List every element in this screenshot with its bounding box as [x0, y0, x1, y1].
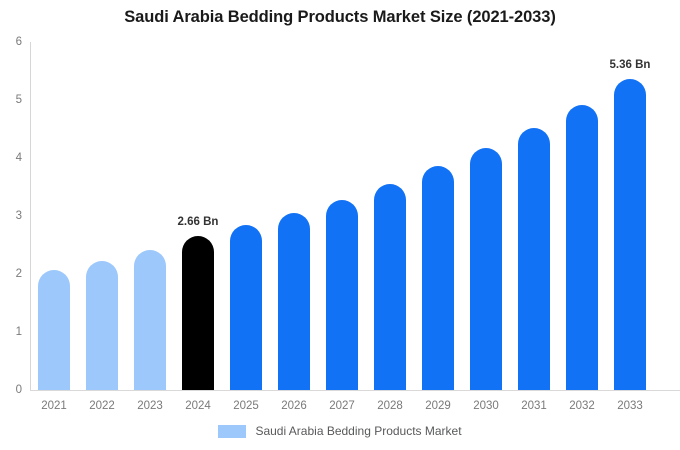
- bar-2023[interactable]: [134, 250, 166, 390]
- x-axis-tick-label-2025: 2025: [222, 400, 270, 412]
- y-axis-tick-label: 6: [16, 36, 22, 48]
- x-axis-tick-label-2029: 2029: [414, 400, 462, 412]
- bar-2027[interactable]: [326, 200, 358, 390]
- x-axis-tick-label-2027: 2027: [318, 400, 366, 412]
- x-axis-tick-label-2022: 2022: [78, 400, 126, 412]
- y-axis-tick-label: 2: [16, 268, 22, 280]
- chart-container: Saudi Arabia Bedding Products Market Siz…: [0, 0, 680, 450]
- bar-2030[interactable]: [470, 148, 502, 390]
- y-axis-line: [30, 42, 31, 390]
- x-axis-tick-label-2021: 2021: [30, 400, 78, 412]
- legend-swatch-icon: [218, 425, 246, 438]
- x-axis-tick-label-2030: 2030: [462, 400, 510, 412]
- y-axis-tick-label: 4: [16, 152, 22, 164]
- bar-2022[interactable]: [86, 261, 118, 390]
- bar-2033[interactable]: 5.36 Bn: [614, 79, 646, 390]
- chart-legend: Saudi Arabia Bedding Products Market: [0, 424, 680, 438]
- legend-item-label: Saudi Arabia Bedding Products Market: [255, 424, 461, 438]
- bar-2031[interactable]: [518, 128, 550, 390]
- bar-value-label-2033: 5.36 Bn: [610, 59, 651, 71]
- x-axis-tick-label-2031: 2031: [510, 400, 558, 412]
- chart-title: Saudi Arabia Bedding Products Market Siz…: [0, 8, 680, 27]
- bar-2028[interactable]: [374, 184, 406, 390]
- x-axis-tick-label-2032: 2032: [558, 400, 606, 412]
- bar-2025[interactable]: [230, 225, 262, 390]
- x-axis-tick-label-2033: 2033: [606, 400, 654, 412]
- y-axis-tick-label: 3: [16, 210, 22, 222]
- bar-2024[interactable]: 2.66 Bn: [182, 236, 214, 390]
- x-axis-tick-label-2023: 2023: [126, 400, 174, 412]
- x-axis-tick-label-2026: 2026: [270, 400, 318, 412]
- x-axis-tick-label-2024: 2024: [174, 400, 222, 412]
- bar-2021[interactable]: [38, 270, 70, 390]
- bar-2032[interactable]: [566, 105, 598, 390]
- y-axis-tick-label: 0: [16, 384, 22, 396]
- y-axis-tick-label: 1: [16, 326, 22, 338]
- x-axis-line: [30, 390, 680, 391]
- plot-area: 0123456 2.66 Bn5.36 Bn 20212022202320242…: [30, 42, 680, 390]
- y-axis-tick-label: 5: [16, 94, 22, 106]
- bar-value-label-2024: 2.66 Bn: [178, 216, 219, 228]
- bar-2029[interactable]: [422, 166, 454, 390]
- x-axis-tick-label-2028: 2028: [366, 400, 414, 412]
- bar-2026[interactable]: [278, 213, 310, 390]
